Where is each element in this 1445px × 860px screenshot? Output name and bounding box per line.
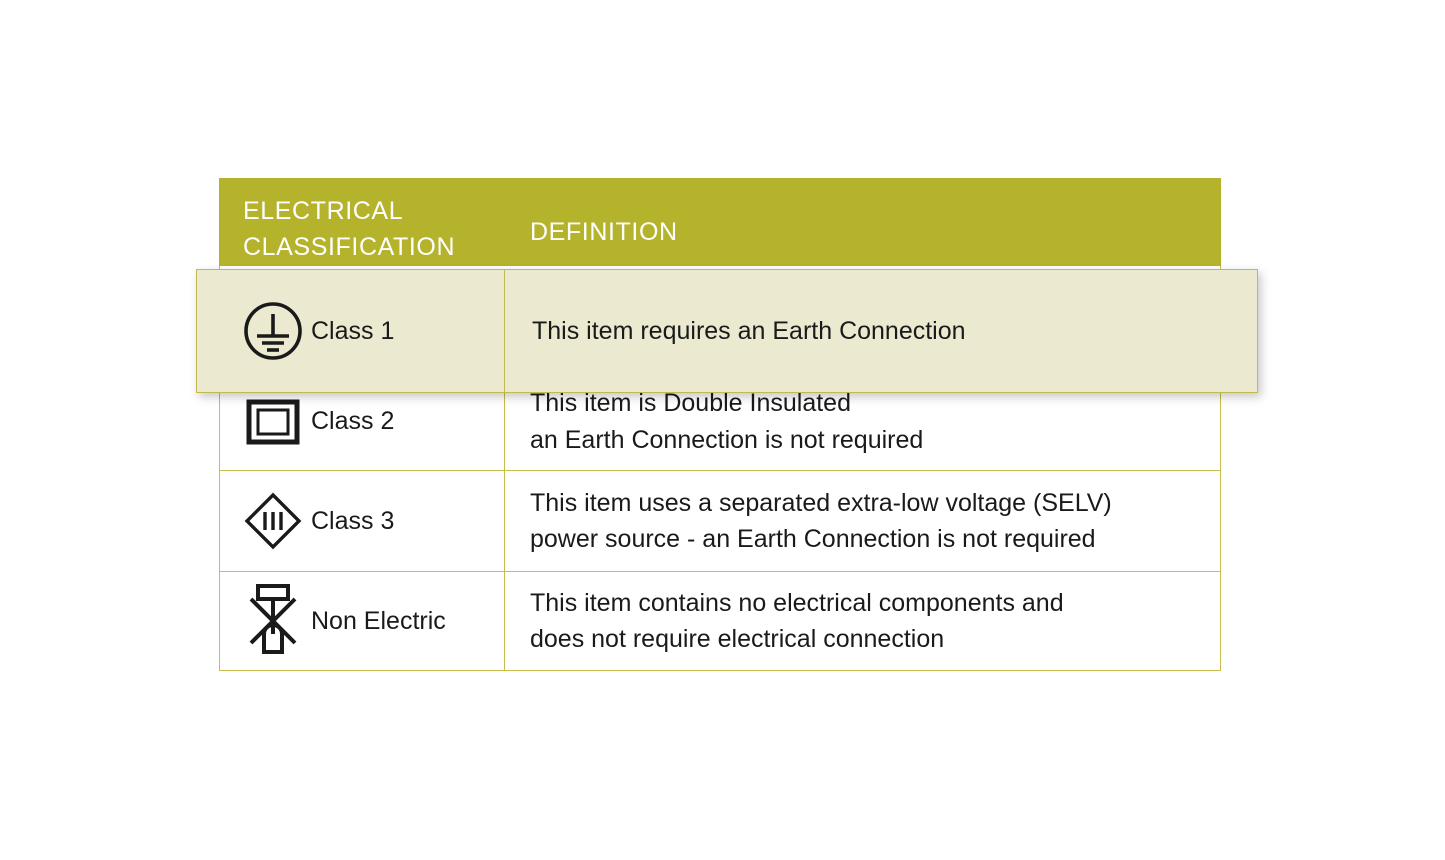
diamond-three-bars-icon — [242, 490, 304, 552]
table-row-highlighted[interactable]: Class 1 This item requires an Earth Conn… — [196, 269, 1258, 393]
definition-line: This item requires an Earth Connection — [532, 313, 966, 349]
table-row[interactable]: Non Electric This item contains no elect… — [220, 572, 1220, 670]
definition-line: This item contains no electrical compone… — [530, 585, 1220, 621]
double-square-insulation-icon — [242, 391, 304, 453]
table-row[interactable]: Class 3 This item uses a separated extra… — [220, 471, 1220, 572]
definition-line: power source - an Earth Connection is no… — [530, 521, 1220, 557]
column-header-definition: DEFINITION — [505, 178, 678, 251]
classification-label: Non Electric — [311, 607, 446, 636]
definition-line: an Earth Connection is not required — [530, 422, 1220, 458]
column-header-line-1: ELECTRICAL — [243, 194, 505, 230]
cell-definition: This item requires an Earth Connection — [505, 270, 1257, 392]
definition-line: This item uses a separated extra-low vol… — [530, 485, 1220, 521]
crossed-out-plug-icon — [242, 590, 304, 652]
classification-label: Class 1 — [311, 317, 394, 346]
classification-label: Class 2 — [311, 407, 394, 436]
cell-definition: This item contains no electrical compone… — [505, 572, 1220, 670]
cell-classification: Class 3 — [220, 471, 505, 571]
table-header-row: ELECTRICAL CLASSIFICATION DEFINITION — [219, 178, 1221, 266]
column-header-line-2: CLASSIFICATION — [243, 230, 505, 266]
definition-line: does not require electrical connection — [530, 621, 1220, 657]
cell-definition: This item uses a separated extra-low vol… — [505, 471, 1220, 571]
earth-ground-circle-icon — [242, 300, 304, 362]
column-header-electrical-classification: ELECTRICAL CLASSIFICATION — [219, 178, 505, 265]
classification-label: Class 3 — [311, 507, 394, 536]
cell-classification: Non Electric — [220, 572, 505, 670]
electrical-classification-table: ELECTRICAL CLASSIFICATION DEFINITION Cla… — [219, 178, 1221, 671]
cell-classification: Class 1 — [197, 270, 505, 392]
